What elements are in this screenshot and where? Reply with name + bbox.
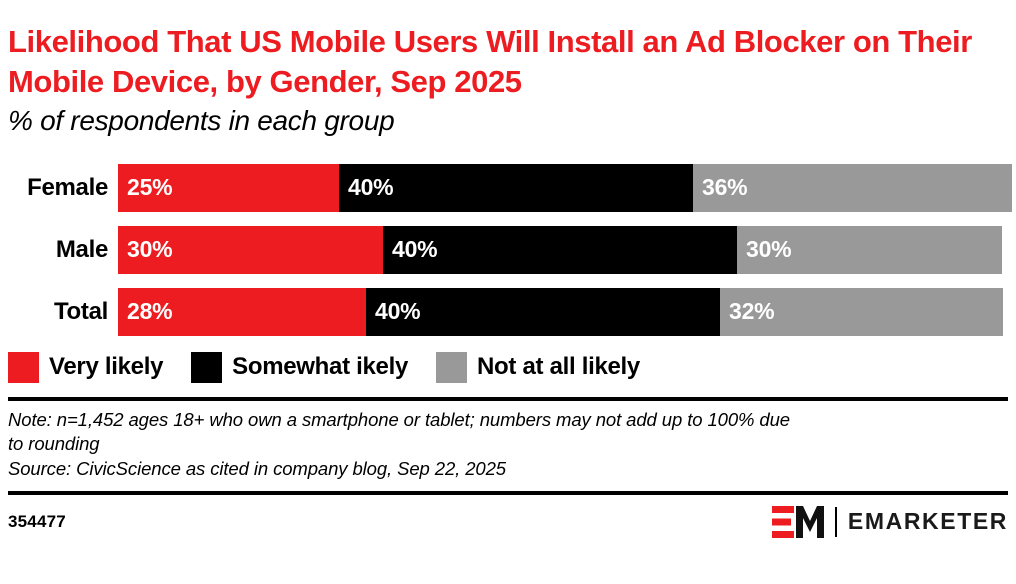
bar-segment-male-not-at-all-likely[interactable]: 30% [737, 226, 1002, 274]
bar-segment-female-somewhat-likely[interactable]: 40% [339, 164, 693, 212]
source-line: Source: CivicScience as cited in company… [8, 457, 1008, 482]
bar-segment-female-very-likely[interactable]: 25% [118, 164, 339, 212]
chart-notes: Note: n=1,452 ages 18+ who own a smartph… [8, 401, 1008, 482]
bar-segment-total-not-at-all-likely[interactable]: 32% [720, 288, 1003, 336]
logo-divider [835, 507, 837, 537]
chart-legend: Very likely Somewhat ikely Not at all li… [8, 352, 1008, 383]
brand-name: EMARKETER [848, 508, 1008, 535]
legend-item-very-likely[interactable]: Very likely [8, 352, 163, 383]
legend-item-not-at-all-likely[interactable]: Not at all likely [436, 352, 640, 383]
category-label-male: Male [8, 226, 118, 274]
category-label-female: Female [8, 164, 118, 212]
note-line-2: to rounding [8, 432, 1008, 457]
bar-value-label: 40% [339, 174, 393, 201]
bar-row-female: Female 25% 40% 36% [8, 164, 1008, 212]
bar-segment-male-very-likely[interactable]: 30% [118, 226, 383, 274]
note-line-1: Note: n=1,452 ages 18+ who own a smartph… [8, 408, 1008, 433]
em-monogram-icon [772, 506, 824, 538]
chart-footer: 354477 EMARKETER [8, 495, 1008, 538]
bar-row-total: Total 28% 40% 32% [8, 288, 1008, 336]
bar-value-label: 25% [118, 174, 172, 201]
bar-value-label: 40% [366, 298, 420, 325]
bar-row-male: Male 30% 40% 30% [8, 226, 1008, 274]
legend-label: Somewhat ikely [232, 353, 408, 381]
chart-id: 354477 [8, 512, 66, 532]
legend-label: Not at all likely [477, 353, 640, 381]
bar-segment-total-somewhat-likely[interactable]: 40% [366, 288, 720, 336]
bar-segment-male-somewhat-likely[interactable]: 40% [383, 226, 737, 274]
legend-item-somewhat-likely[interactable]: Somewhat ikely [191, 352, 408, 383]
bar-track-male: 30% 40% 30% [118, 226, 1008, 274]
chart-plot-area: Female 25% 40% 36% Male 30% [8, 164, 1008, 340]
bar-value-label: 30% [737, 236, 791, 263]
page-title: Likelihood That US Mobile Users Will Ins… [8, 22, 1008, 101]
bar-value-label: 28% [118, 298, 172, 325]
bar-value-label: 30% [118, 236, 172, 263]
emarketer-logo: EMARKETER [772, 506, 1008, 538]
bar-value-label: 32% [720, 298, 774, 325]
bar-segment-total-very-likely[interactable]: 28% [118, 288, 366, 336]
category-label-total: Total [8, 288, 118, 336]
legend-swatch-icon [436, 352, 467, 383]
bar-segment-female-not-at-all-likely[interactable]: 36% [693, 164, 1012, 212]
bar-track-total: 28% 40% 32% [118, 288, 1008, 336]
legend-swatch-icon [191, 352, 222, 383]
chart-card: Likelihood That US Mobile Users Will Ins… [0, 0, 1016, 584]
bar-value-label: 36% [693, 174, 747, 201]
chart-subtitle: % of respondents in each group [8, 103, 1008, 139]
bar-value-label: 40% [383, 236, 437, 263]
legend-label: Very likely [49, 353, 163, 381]
bar-track-female: 25% 40% 36% [118, 164, 1012, 212]
legend-swatch-icon [8, 352, 39, 383]
chart-header: Likelihood That US Mobile Users Will Ins… [8, 0, 1008, 140]
